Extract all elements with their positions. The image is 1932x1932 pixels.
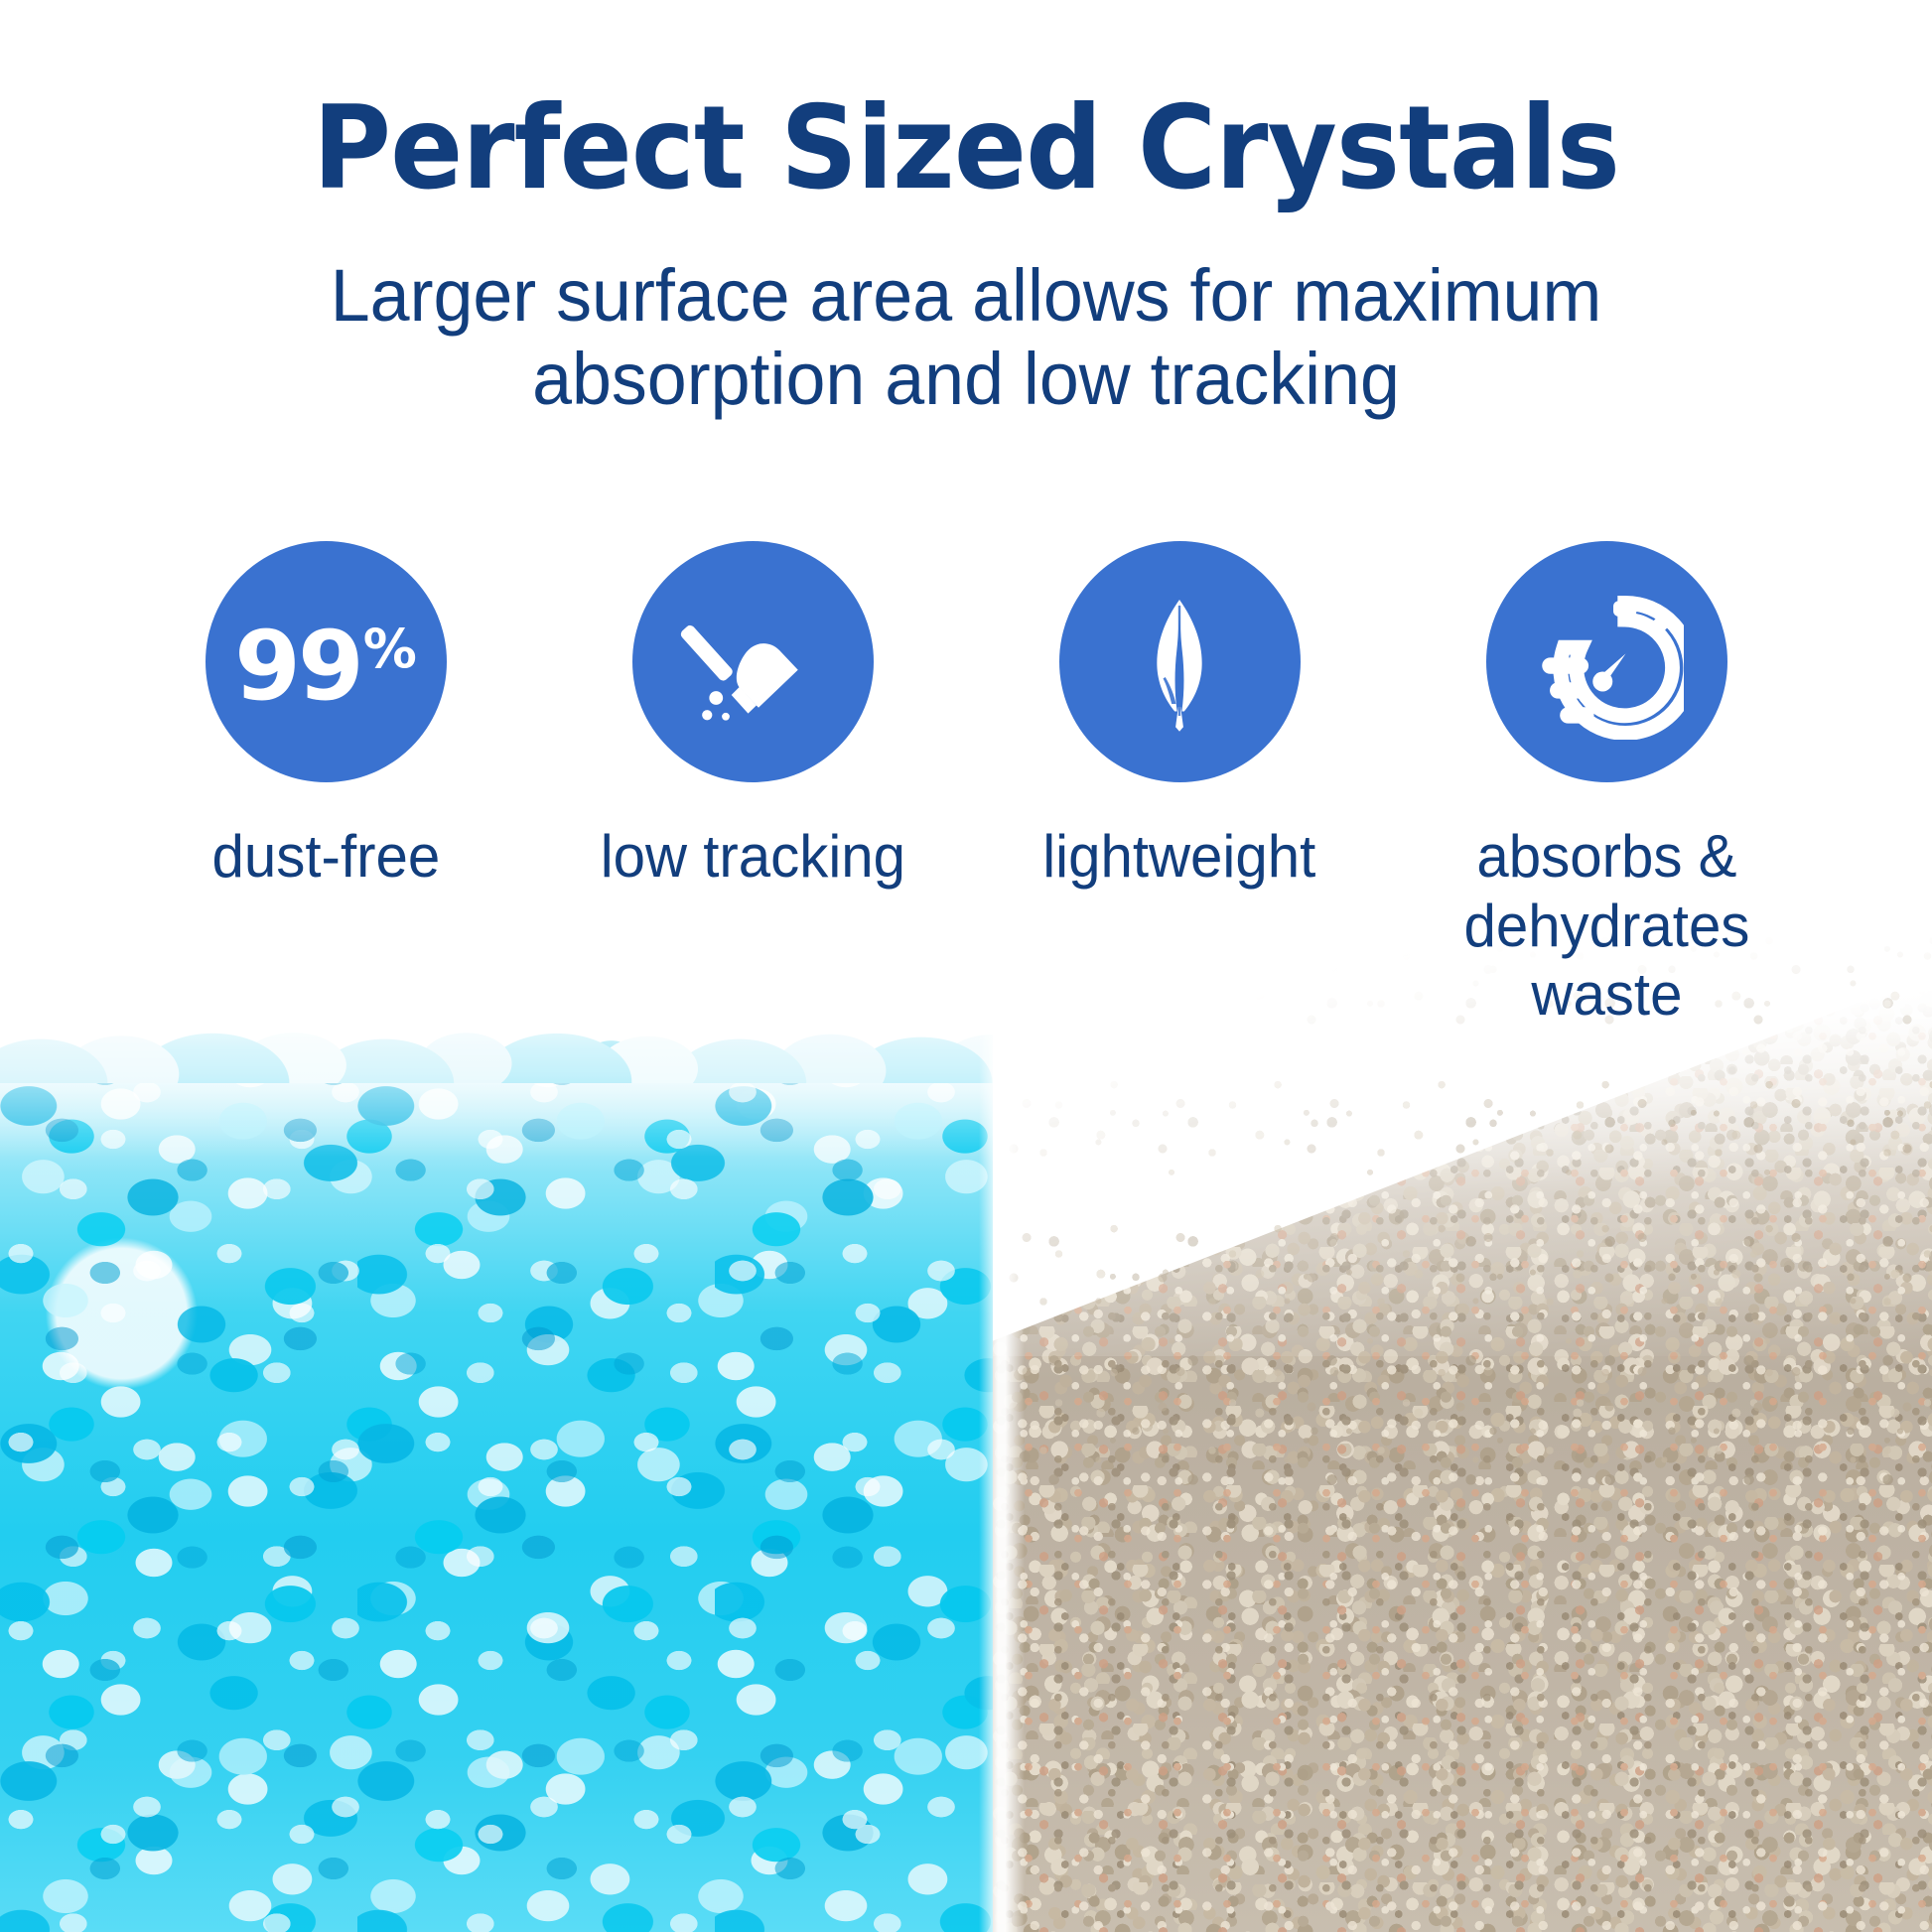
- feature-item-low-tracking: low tracking: [539, 541, 966, 892]
- label-line-3: waste: [1531, 961, 1682, 1028]
- feature-item-lightweight: lightweight: [966, 541, 1393, 892]
- clay-gravel-litter-photo: [993, 929, 1932, 1932]
- feature-item-dust-free: 99% dust-free: [112, 541, 539, 892]
- infographic-canvas: Perfect Sized Crystals Larger surface ar…: [0, 0, 1932, 1932]
- crystal-texture-layer-2: [0, 1038, 1013, 1932]
- feature-item-absorbs-dehydrates: absorbs & dehydrates waste: [1393, 541, 1820, 1030]
- subtitle-line-1: Larger surface area allows for maximum: [29, 254, 1903, 338]
- percent-value: 99%: [234, 619, 417, 714]
- feature-label-dust-free: dust-free: [211, 822, 440, 892]
- broom-sweep-icon: [632, 541, 874, 782]
- percent-99-badge-icon: 99%: [206, 541, 447, 782]
- feature-label-absorbs-dehydrates: absorbs & dehydrates waste: [1463, 822, 1749, 1030]
- stopwatch-speed-icon: [1486, 541, 1727, 782]
- page-title: Perfect Sized Crystals: [68, 0, 1864, 207]
- label-line-2: dehydrates: [1463, 893, 1749, 959]
- feature-list: 99% dust-free: [0, 541, 1932, 1030]
- feature-label-low-tracking: low tracking: [600, 822, 904, 892]
- header: Perfect Sized Crystals Larger surface ar…: [0, 0, 1932, 422]
- page-subtitle: Larger surface area allows for maximum a…: [29, 207, 1903, 422]
- feature-label-lightweight: lightweight: [1042, 822, 1315, 892]
- percent-number: 99: [234, 619, 361, 714]
- feather-icon: [1059, 541, 1301, 782]
- product-comparison-photo: [0, 929, 1932, 1932]
- label-line-1: absorbs &: [1476, 823, 1736, 890]
- crystal-litter-photo: [0, 929, 1013, 1932]
- percent-symbol: %: [363, 622, 417, 676]
- subtitle-line-2: absorption and low tracking: [29, 338, 1903, 421]
